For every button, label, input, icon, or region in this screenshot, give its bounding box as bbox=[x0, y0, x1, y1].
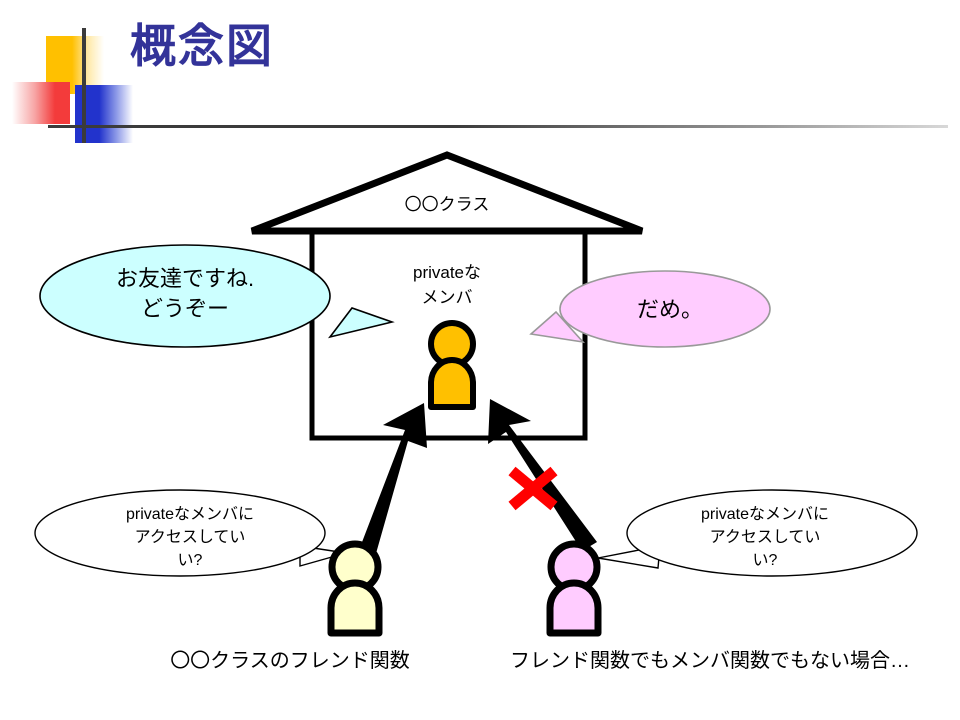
slide-canvas: 概念図 bbox=[0, 0, 960, 720]
callout-right bbox=[598, 490, 917, 576]
speech-bubble-right bbox=[531, 271, 770, 347]
class-house-roof bbox=[252, 155, 642, 231]
actor-friend-figure bbox=[331, 544, 379, 633]
callout-left bbox=[35, 490, 346, 576]
speech-bubble-right-body bbox=[560, 271, 770, 347]
callout-left-body bbox=[35, 490, 325, 576]
access-arrow-allowed bbox=[359, 403, 427, 557]
actor-stranger-figure bbox=[550, 544, 598, 633]
callout-right-body bbox=[627, 490, 917, 576]
speech-bubble-left-body bbox=[40, 245, 330, 347]
speech-bubble-left bbox=[40, 245, 392, 347]
private-member-figure bbox=[431, 323, 473, 407]
speech-bubble-left-tail bbox=[330, 308, 392, 337]
concept-diagram bbox=[0, 0, 960, 720]
